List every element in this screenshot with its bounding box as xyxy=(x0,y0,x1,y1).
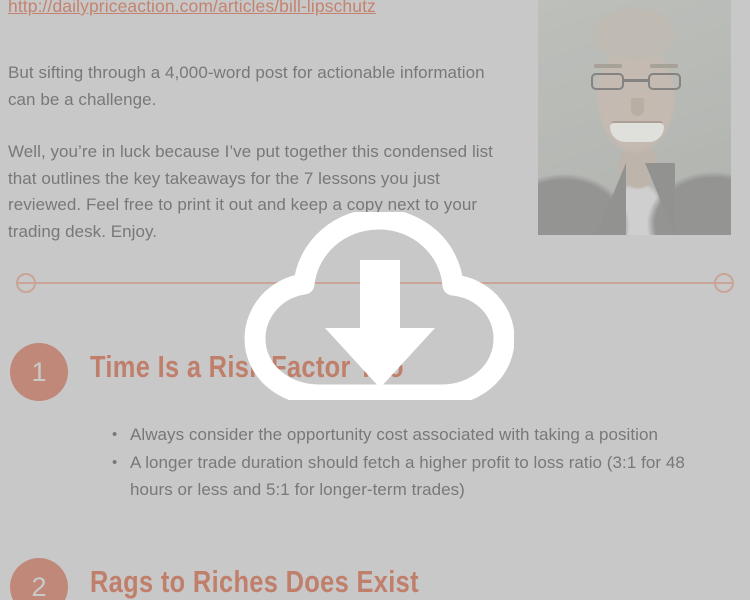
lesson-number-badge: 1 xyxy=(10,343,68,401)
lesson-title: Time Is a Risk Factor Too xyxy=(90,349,404,385)
author-portrait-photo xyxy=(538,0,731,235)
divider-endpoint-left-icon xyxy=(16,273,36,293)
lesson-number-badge: 2 xyxy=(10,558,68,600)
portrait-overlay-veil xyxy=(538,0,731,235)
lesson-bullet-list: Always consider the opportunity cost ass… xyxy=(130,421,730,504)
divider-endpoint-right-icon xyxy=(714,273,734,293)
article-paragraph-2: Well, you’re in luck because I’ve put to… xyxy=(8,139,508,245)
document-page: http://dailypriceaction.com/articles/bil… xyxy=(0,0,750,600)
list-item: Always consider the opportunity cost ass… xyxy=(130,421,730,448)
article-paragraph-1: But sifting through a 4,000-word post fo… xyxy=(8,60,508,113)
article-url-link[interactable]: http://dailypriceaction.com/articles/bil… xyxy=(8,0,376,17)
list-item: A longer trade duration should fetch a h… xyxy=(130,449,730,503)
section-divider xyxy=(18,282,732,284)
lesson-title: Rags to Riches Does Exist xyxy=(90,564,419,600)
